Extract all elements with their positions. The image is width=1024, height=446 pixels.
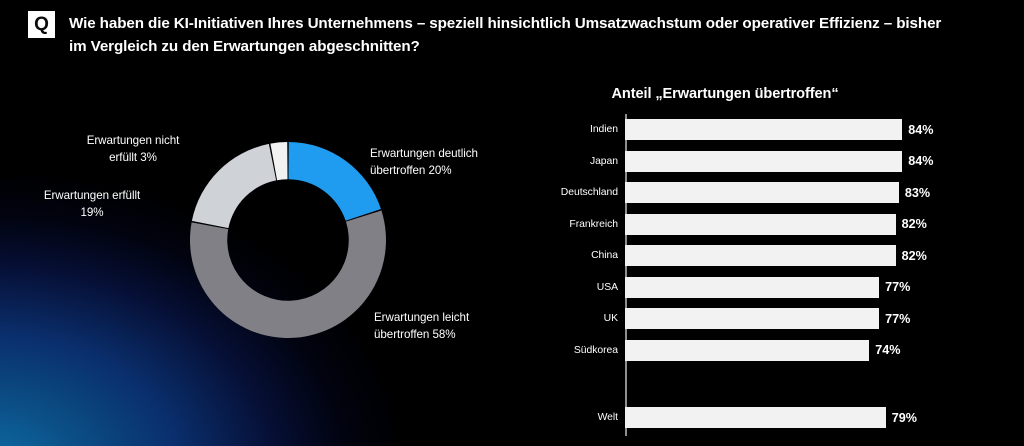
bar-category-label: Indien <box>560 124 622 135</box>
bar-track: 74% <box>625 340 1012 361</box>
bar-track: 77% <box>625 277 1012 298</box>
bar-value-label: 82% <box>902 217 927 231</box>
donut-label-deutlich-uebertroffen: Erwartungen deutlichübertroffen 20% <box>370 146 540 180</box>
bar-row: Frankreich82% <box>560 214 1012 235</box>
bar-category-label: UK <box>560 313 622 324</box>
donut-chart-svg <box>188 140 388 340</box>
bar-category-label: Frankreich <box>560 219 622 230</box>
bar-chart: Indien84%Japan84%Deutschland83%Frankreic… <box>560 114 1012 436</box>
bar-category-label: Südkorea <box>560 345 622 356</box>
donut-slice <box>190 210 386 338</box>
bar-track: 83% <box>625 182 1012 203</box>
donut-slice-group <box>190 142 386 338</box>
bar-value-label: 84% <box>908 123 933 137</box>
bar-fill <box>625 277 879 298</box>
bar-fill <box>625 214 896 235</box>
bar-value-label: 77% <box>885 312 910 326</box>
bar-category-label: Japan <box>560 156 622 167</box>
bar-track: 79% <box>625 407 1012 428</box>
bar-fill <box>625 245 896 266</box>
bar-value-label: 83% <box>905 186 930 200</box>
question-header: Q Wie haben die KI-Initiativen Ihres Unt… <box>28 11 978 58</box>
bar-row: China82% <box>560 245 1012 266</box>
donut-chart <box>188 140 388 340</box>
bar-value-label: 84% <box>908 154 933 168</box>
bar-row: USA77% <box>560 277 1012 298</box>
bar-chart-title: Anteil „Erwartungen übertroffen“ <box>560 86 890 102</box>
question-badge-icon: Q <box>28 11 55 38</box>
donut-label-erfuellt: Erwartungen erfüllt19% <box>12 188 172 222</box>
bar-row: Japan84% <box>560 151 1012 172</box>
bar-fill <box>625 308 879 329</box>
bar-category-label: Deutschland <box>560 187 622 198</box>
bar-row: Welt79% <box>560 407 1012 428</box>
bar-fill <box>625 340 869 361</box>
bar-value-label: 82% <box>902 249 927 263</box>
bar-category-label: USA <box>560 282 622 293</box>
bar-track: 77% <box>625 308 1012 329</box>
bar-track: 82% <box>625 245 1012 266</box>
bar-fill <box>625 119 902 140</box>
donut-label-leicht-uebertroffen: Erwartungen leichtübertroffen 58% <box>374 310 544 344</box>
bar-category-label: China <box>560 250 622 261</box>
bar-fill <box>625 407 886 428</box>
bar-category-label: Welt <box>560 412 622 423</box>
bar-row: Indien84% <box>560 119 1012 140</box>
bar-value-label: 74% <box>875 343 900 357</box>
bar-row: UK77% <box>560 308 1012 329</box>
bar-fill <box>625 182 899 203</box>
bar-track: 84% <box>625 119 1012 140</box>
donut-slice <box>288 142 380 221</box>
bar-value-label: 79% <box>892 411 917 425</box>
bar-row: Südkorea74% <box>560 340 1012 361</box>
bar-fill <box>625 151 902 172</box>
slide-canvas: Q Wie haben die KI-Initiativen Ihres Unt… <box>0 0 1024 446</box>
bar-track: 84% <box>625 151 1012 172</box>
donut-label-nicht-erfuellt: Erwartungen nichterfüllt 3% <box>48 133 218 167</box>
bar-value-label: 77% <box>885 280 910 294</box>
page-title: Wie haben die KI-Initiativen Ihres Unter… <box>69 11 949 58</box>
bar-row: Deutschland83% <box>560 182 1012 203</box>
bar-track: 82% <box>625 214 1012 235</box>
